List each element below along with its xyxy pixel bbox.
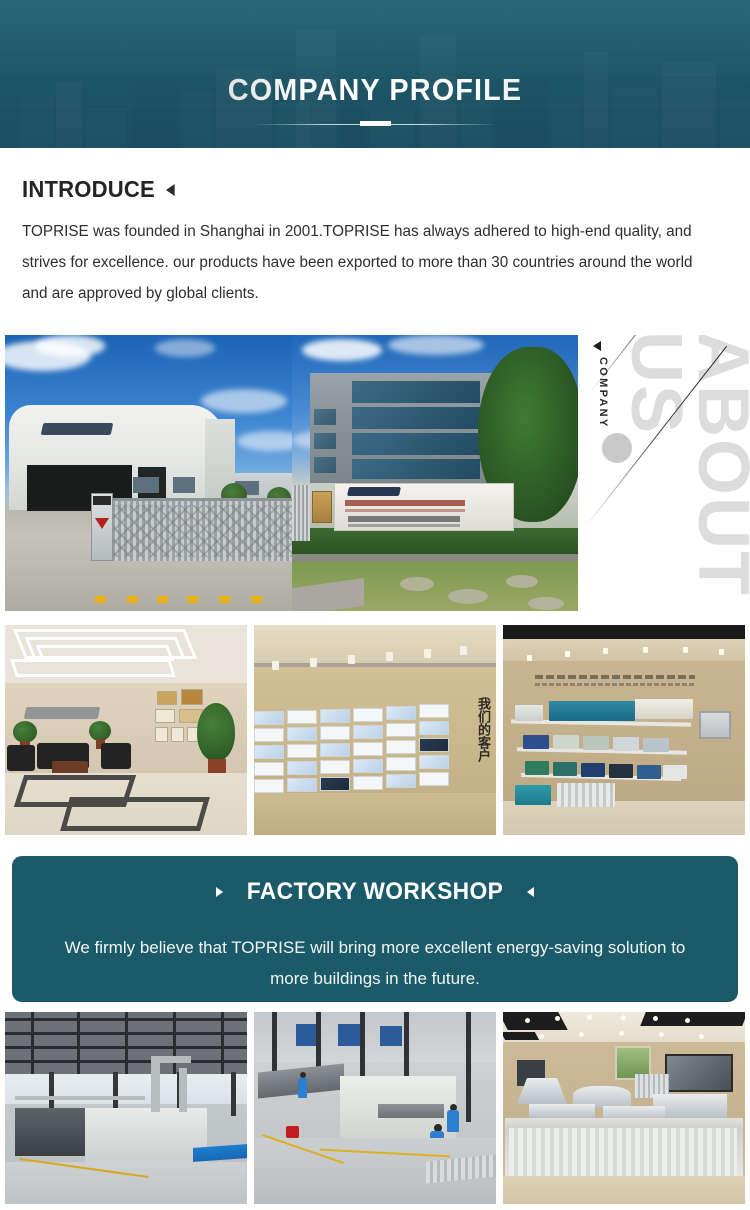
gallery-bottom-row [5, 1012, 745, 1204]
hero-photo-row: ABOUT US COMPANY [5, 335, 745, 613]
showroom-display-screen [665, 1054, 733, 1092]
production-machine [85, 1108, 207, 1168]
introduce-section: INTRODUCE TOPRISE was founded in Shangha… [22, 176, 732, 309]
page-title: COMPANY PROFILE [26, 72, 724, 108]
worker [298, 1078, 307, 1098]
triangle-right-icon [216, 887, 223, 897]
factory-workshop-title: FACTORY WORKSHOP [12, 878, 738, 906]
logo-wall-chinese-caption: 我们的客户 [470, 697, 492, 762]
product-display-photo [503, 625, 745, 835]
workshop-workers-photo [254, 1012, 496, 1204]
introduce-heading: INTRODUCE [22, 176, 704, 203]
logo-panel-grid [254, 701, 464, 787]
company-profile-page: COMPANY PROFILE INTRODUCE TOPRISE was fo… [0, 0, 750, 1210]
company-vertical-label: COMPANY [597, 357, 609, 429]
factory-workshop-banner: FACTORY WORKSHOP We firmly believe that … [12, 856, 738, 1002]
worker [447, 1110, 459, 1132]
gallery-top-row: 我们的客户 [5, 625, 745, 835]
triangle-left-icon [166, 184, 175, 196]
workshop-production-line-photo [5, 1012, 247, 1204]
lobby-toprise-logo [24, 707, 101, 719]
factory-workshop-subtitle: We firmly believe that TOPRISE will brin… [58, 932, 692, 994]
triangle-left-icon [593, 341, 601, 351]
client-logo-wall-photo: 我们的客户 [254, 625, 496, 835]
title-underline-accent [360, 121, 391, 126]
wall-control-box [699, 711, 731, 739]
office-building-photo [292, 335, 578, 611]
introduce-paragraph: TOPRISE was founded in Shanghai in 2001.… [22, 216, 717, 309]
about-us-decoration: ABOUT US COMPANY [583, 335, 750, 611]
office-lobby-photo [5, 625, 247, 835]
hero-image-group [5, 335, 578, 611]
factory-workshop-title-label: FACTORY WORKSHOP [247, 878, 503, 906]
triangle-left-icon [527, 887, 534, 897]
about-us-watermark: ABOUT US [622, 335, 750, 611]
decor-circle [602, 433, 632, 463]
showroom-skylight-photo [503, 1012, 745, 1204]
page-header-banner: COMPANY PROFILE [0, 0, 750, 148]
introduce-heading-label: INTRODUCE [22, 176, 155, 203]
toprise-building-logo [41, 423, 114, 435]
factory-gate-photo [5, 335, 292, 611]
floor-cart [286, 1126, 299, 1138]
